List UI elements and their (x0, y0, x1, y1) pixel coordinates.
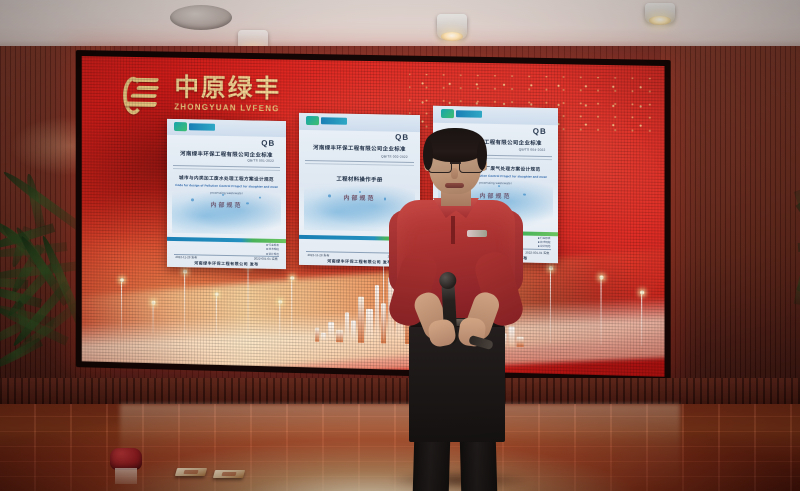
stage-presentation-scene: 中原绿丰 ZHONGYUAN LVFENG QB 河南绿丰环保工程有限公司企业标… (0, 0, 800, 491)
presenter-hair-side-right (477, 140, 487, 170)
document-sheet-1: QB 河南绿丰环保工程有限公司企业标准 QB/TS 001-2022 城市与内类… (167, 119, 286, 269)
lvfeng-doc-logo-icon (306, 116, 347, 126)
water-splash-graphic (172, 188, 281, 234)
skyline-antenna (550, 269, 551, 343)
doc-date-right: 2022-001-01 实施 (254, 257, 278, 261)
microphone-head-icon (439, 272, 457, 290)
palm-frond (794, 262, 800, 305)
ceiling-spotlight-3 (437, 14, 467, 39)
presenter-chest-logo-icon (467, 230, 487, 237)
spotlight-lens-icon (441, 32, 463, 41)
brand-name-cn: 中原绿丰 (174, 76, 281, 103)
doc-bullet-list: ■ 行业标准■ 技术规程■ 设计规范 (538, 236, 551, 249)
skyline-building (351, 321, 356, 343)
skyline-antenna (216, 295, 217, 335)
skyline-ground (82, 294, 665, 377)
skyline-building (358, 297, 364, 343)
booklet-1 (175, 468, 207, 476)
red-stool (110, 448, 142, 482)
stool-base (115, 468, 137, 484)
skyline-antenna (184, 273, 185, 335)
doc-code: QB (533, 126, 547, 135)
skyline-antenna (121, 281, 122, 333)
presenter-hair-side-left (423, 140, 433, 170)
brand-logo: 中原绿丰 ZHONGYUAN LVFENG (123, 75, 281, 114)
doc-publisher: 河南绿丰环保工程有限公司 发布 (167, 260, 286, 268)
doc-date-left: 2022-11-28 发布 (307, 253, 329, 257)
doc-title-cn: 城市与内类加工废水处理工程方案设计规范 (167, 175, 286, 183)
doc-color-bar (167, 237, 286, 243)
city-skyline-illustration (82, 250, 665, 377)
ceiling-speaker-grille (170, 5, 232, 30)
stool-seat (110, 448, 142, 470)
skyline-building (375, 285, 379, 343)
skyline-building (315, 328, 319, 342)
presenter (381, 132, 531, 482)
ceiling-spotlight-4 (645, 3, 675, 23)
presenter-hair (425, 128, 485, 162)
skyline-antenna (291, 279, 292, 337)
skyline-antenna (641, 294, 642, 346)
skyline-building (328, 322, 334, 342)
lvfeng-doc-logo-icon (174, 122, 215, 132)
doc-date-left: 2022-11-28 发布 (175, 255, 197, 259)
skyline-antenna (153, 304, 154, 334)
presenter-nose (451, 168, 458, 179)
skyline-antenna (601, 278, 602, 344)
potted-palm-right (690, 168, 800, 358)
skyline-building (336, 330, 343, 342)
skyline-building (345, 312, 349, 342)
skyline-building (321, 333, 326, 342)
palm-frond (0, 277, 28, 289)
presenter-placket (451, 216, 455, 244)
skyline-antenna (279, 303, 280, 337)
spotlight-lens-icon (649, 16, 671, 25)
skyline-antenna (248, 266, 249, 336)
booklet-2 (213, 470, 245, 478)
doc-code: QB (261, 138, 275, 147)
lvfeng-doc-logo-icon (441, 109, 482, 119)
presenter-mouth (445, 183, 464, 188)
zhongyuan-lvfeng-logo-icon (123, 75, 166, 112)
skyline-building (366, 309, 373, 343)
